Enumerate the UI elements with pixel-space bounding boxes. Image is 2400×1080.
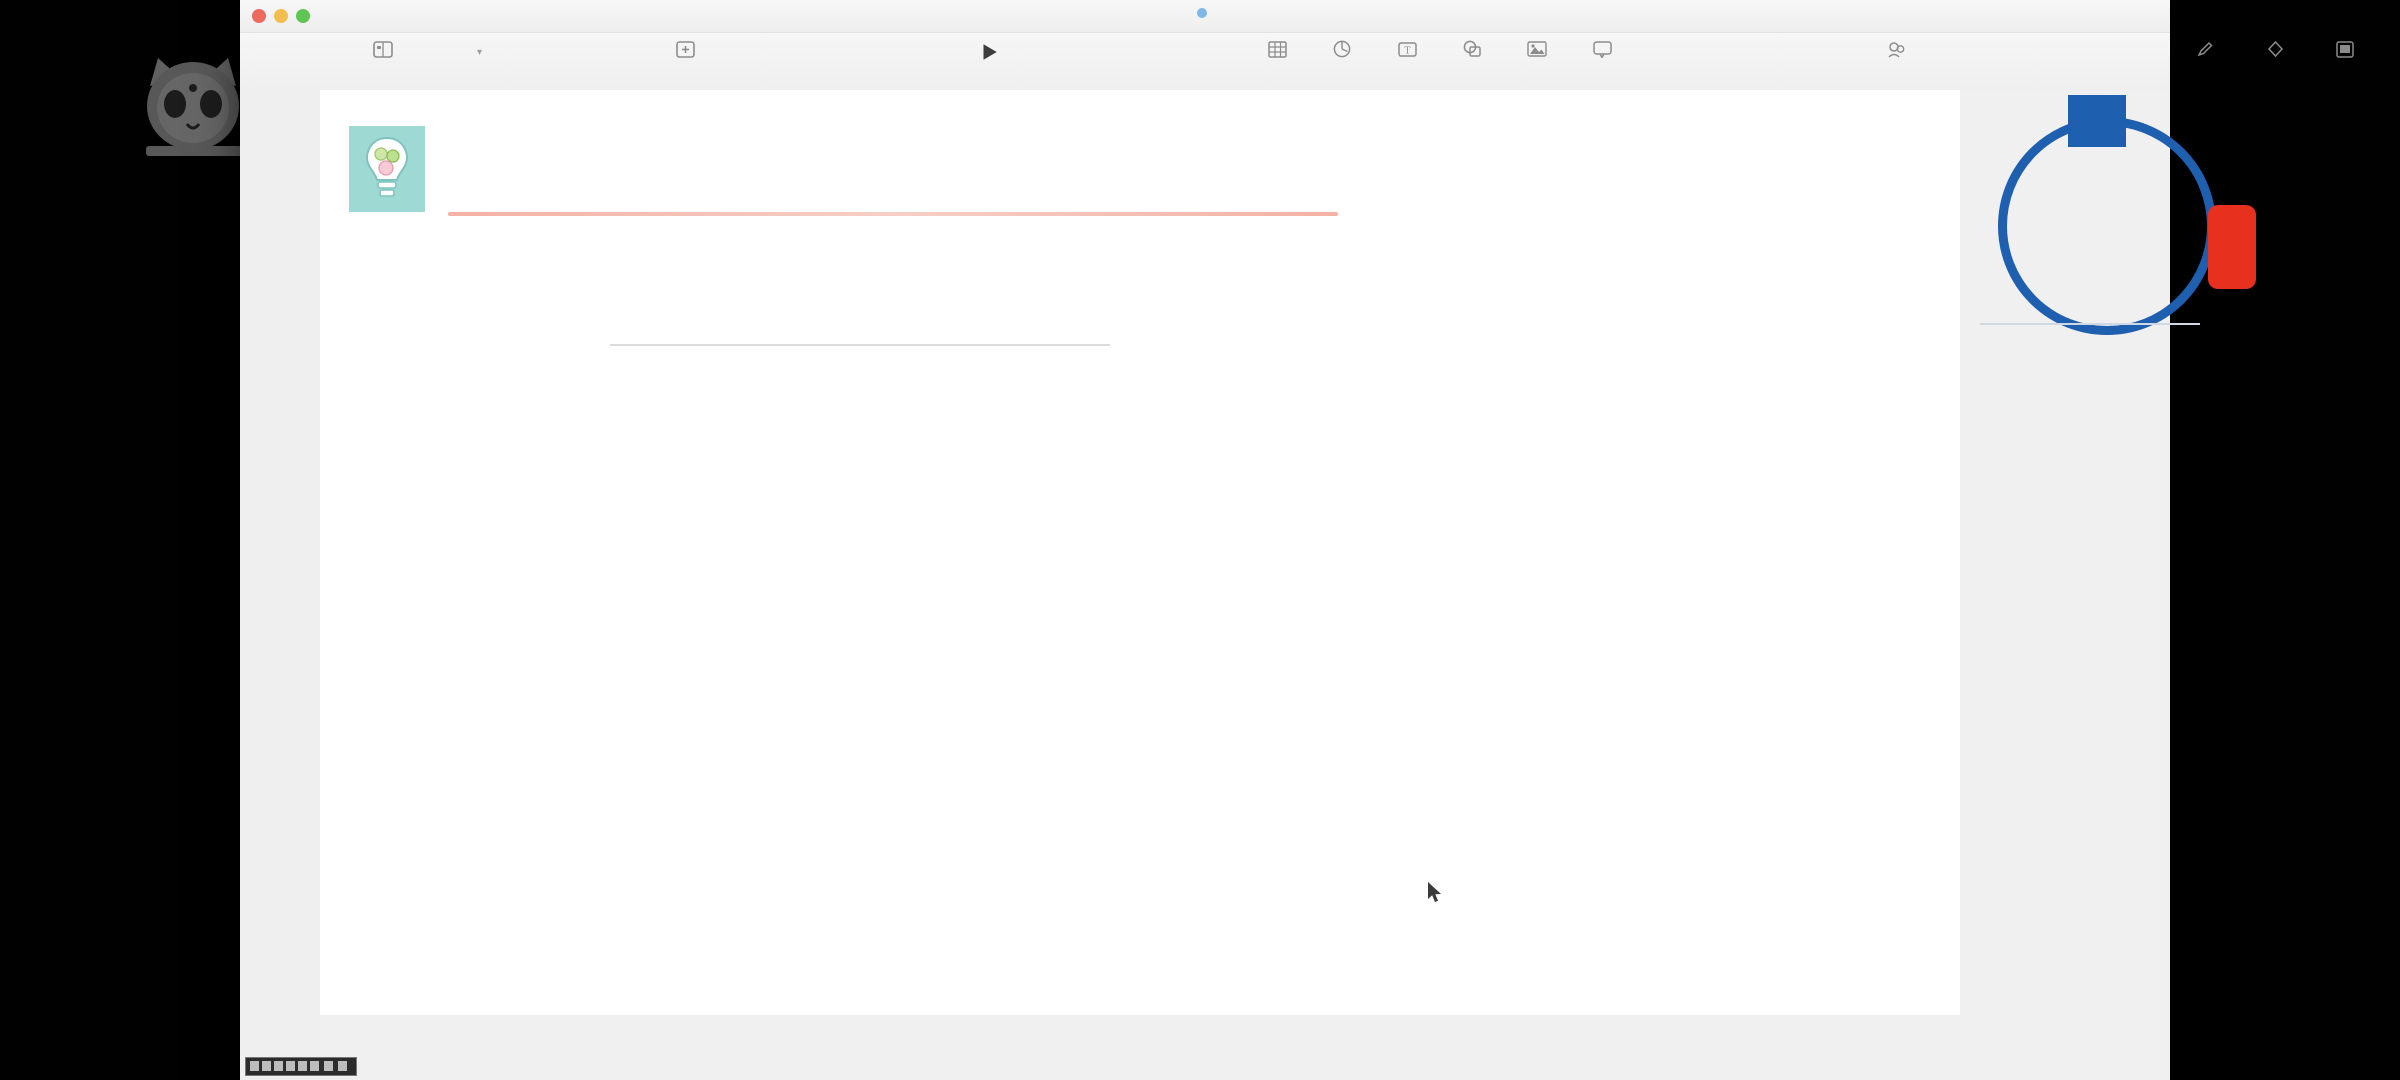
screen-root: ▾ [0, 0, 2400, 1080]
title-underline [448, 212, 1338, 216]
text-icon: T [1370, 36, 1444, 62]
toolbar-collaborate-button[interactable] [1860, 36, 1934, 65]
animate-icon [2238, 36, 2312, 62]
toolbar-table-button[interactable] [1240, 36, 1314, 65]
main-toolbar: ▾ [240, 33, 2170, 91]
logo-book-icon [2068, 95, 2126, 147]
canvas-area [240, 90, 2170, 1080]
table-icon [1240, 36, 1314, 62]
video-control-strip[interactable] [245, 1057, 357, 1076]
strip-cell-4 [286, 1061, 295, 1071]
comment-icon [1565, 36, 1639, 62]
add-slide-icon [648, 36, 722, 62]
bazi-chart [610, 330, 1110, 360]
keynote-window: ▾ [240, 0, 2170, 1080]
slide-navigator-pane[interactable] [240, 90, 321, 1080]
document-status-dot-icon [1197, 8, 1207, 18]
document-title [240, 6, 2170, 23]
toolbar-text-button[interactable]: T [1370, 36, 1444, 65]
toolbar-document-button[interactable] [2308, 36, 2382, 65]
strip-cell-8 [338, 1061, 347, 1071]
zoom-control[interactable]: ▾ [432, 43, 522, 67]
brand-logo [1970, 95, 2250, 405]
toolbar-chart-button[interactable] [1305, 36, 1379, 65]
window-titlebar [240, 0, 2170, 33]
lightbulb-icon [349, 126, 425, 212]
mascot-avatar-icon [128, 48, 258, 166]
toolbar-media-button[interactable] [1500, 36, 1574, 65]
svg-text:T: T [1404, 46, 1410, 56]
logo-stamp [2208, 205, 2256, 289]
toolbar-animate-button[interactable] [2238, 36, 2312, 65]
toolbar-format-button[interactable] [2168, 36, 2242, 65]
media-icon [1500, 36, 1574, 62]
strip-cell-6 [310, 1061, 319, 1071]
sidebar-icon [346, 36, 420, 62]
zoom-value[interactable]: ▾ [432, 43, 522, 58]
format-icon [2168, 36, 2242, 62]
toolbar-play-button[interactable] [952, 39, 1026, 70]
toolbar-shape-button[interactable] [1435, 36, 1509, 65]
shape-icon [1435, 36, 1509, 62]
collaborate-icon [1860, 36, 1934, 62]
toolbar-add-slide-button[interactable] [648, 36, 722, 65]
toolbar-comment-button[interactable] [1565, 36, 1639, 65]
slide-canvas[interactable] [320, 90, 1960, 1015]
strip-cell-1 [250, 1061, 259, 1071]
logo-divider [1980, 323, 2200, 325]
logo-circle-icon [1998, 117, 2216, 335]
chevron-down-icon[interactable]: ▾ [477, 47, 482, 58]
strip-cell-7 [324, 1061, 333, 1071]
chart-icon [1305, 36, 1379, 62]
strip-cell-2 [262, 1061, 271, 1071]
play-icon [952, 39, 1026, 65]
bazi-divider [610, 344, 1110, 346]
canvas-bottom-gutter [320, 1015, 1960, 1080]
strip-cell-3 [274, 1061, 283, 1071]
strip-cell-5 [298, 1061, 307, 1071]
toolbar-view-button[interactable] [346, 36, 420, 65]
document-icon [2308, 36, 2382, 62]
